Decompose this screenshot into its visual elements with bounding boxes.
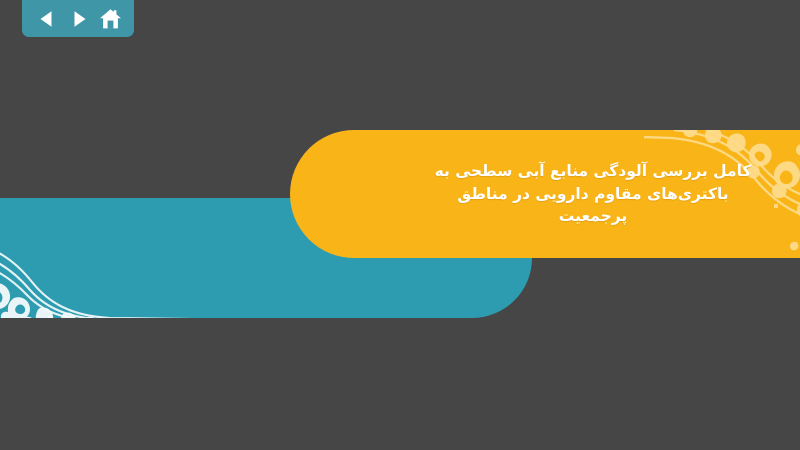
slide-canvas: کامل بررسی آلودگی منابع آبی سطحی به باکت… (0, 0, 800, 450)
title-line-2: باکتری‌های مقاوم دارویی در مناطق (457, 183, 728, 206)
back-button[interactable] (34, 6, 60, 32)
title-line-1: کامل بررسی آلودگی منابع آبی سطحی به (435, 160, 752, 183)
home-icon (99, 8, 122, 30)
orange-title-band: کامل بررسی آلودگی منابع آبی سطحی به باکت… (290, 130, 800, 258)
home-button[interactable] (97, 6, 123, 32)
title-line-3: پرجمعیت (559, 205, 628, 228)
navigation-bar (22, 0, 134, 37)
slide-title: کامل بررسی آلودگی منابع آبی سطحی به باکت… (378, 130, 800, 258)
arabesque-corner-ornament-teal (0, 198, 192, 318)
left-triangle-icon (37, 9, 57, 29)
right-triangle-icon (69, 9, 89, 29)
forward-button[interactable] (66, 6, 92, 32)
